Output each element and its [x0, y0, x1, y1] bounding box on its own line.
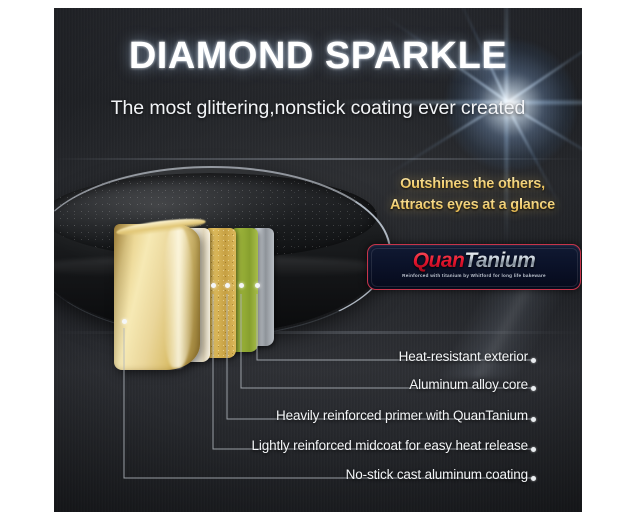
coating-layer-diagram [114, 228, 329, 380]
layer-reinforced-primer [206, 228, 236, 358]
logo-word-quan: Quan [413, 249, 465, 272]
logo-word-tanium: Tanium [464, 249, 535, 272]
callout-end-dot-3 [531, 417, 536, 422]
product-marketing-poster: DIAMOND SPARKLE The most glittering,nons… [54, 8, 582, 512]
logo-wordmark: QuanTanium [368, 250, 580, 271]
poster-canvas: DIAMOND SPARKLE The most glittering,nons… [0, 0, 640, 527]
callout-end-dot-4 [531, 447, 536, 452]
logo-sub-tagline: Reinforced with titanium by Whitford for… [368, 273, 580, 278]
layer-dot-aluminum-alloy-core [239, 283, 244, 288]
layer-heat-resistant-exterior [114, 224, 200, 370]
callout-end-dot-5 [531, 476, 536, 481]
callout-end-dot-2 [531, 386, 536, 391]
callout-label-aluminum-alloy-core: Aluminum alloy core [409, 377, 528, 392]
layer-dot-primer [225, 283, 230, 288]
layer-dot-nonstick-coating [122, 319, 127, 324]
page-title: DIAMOND SPARKLE [54, 35, 582, 78]
layer-dot-midcoat [211, 283, 216, 288]
quantanium-brand-logo: QuanTanium Reinforced with titanium by W… [367, 244, 581, 290]
layer-dot-heat-resistant-exterior [255, 283, 260, 288]
callout-label-nonstick-coating: No-stick cast aluminum coating [346, 467, 528, 482]
tagline-line-1: Outshines the others, [370, 174, 575, 195]
marketing-tagline: Outshines the others, Attracts eyes at a… [370, 174, 575, 216]
callout-end-dot-1 [531, 358, 536, 363]
callout-label-midcoat: Lightly reinforced midcoat for easy heat… [252, 438, 528, 453]
callout-label-reinforced-primer: Heavily reinforced primer with QuanTaniu… [276, 408, 528, 423]
page-subtitle: The most glittering,nonstick coating eve… [54, 97, 582, 120]
callout-label-heat-resistant-exterior: Heat-resistant exterior [399, 349, 528, 364]
tagline-line-2: Attracts eyes at a glance [370, 195, 575, 216]
background-band-upper [54, 158, 582, 160]
